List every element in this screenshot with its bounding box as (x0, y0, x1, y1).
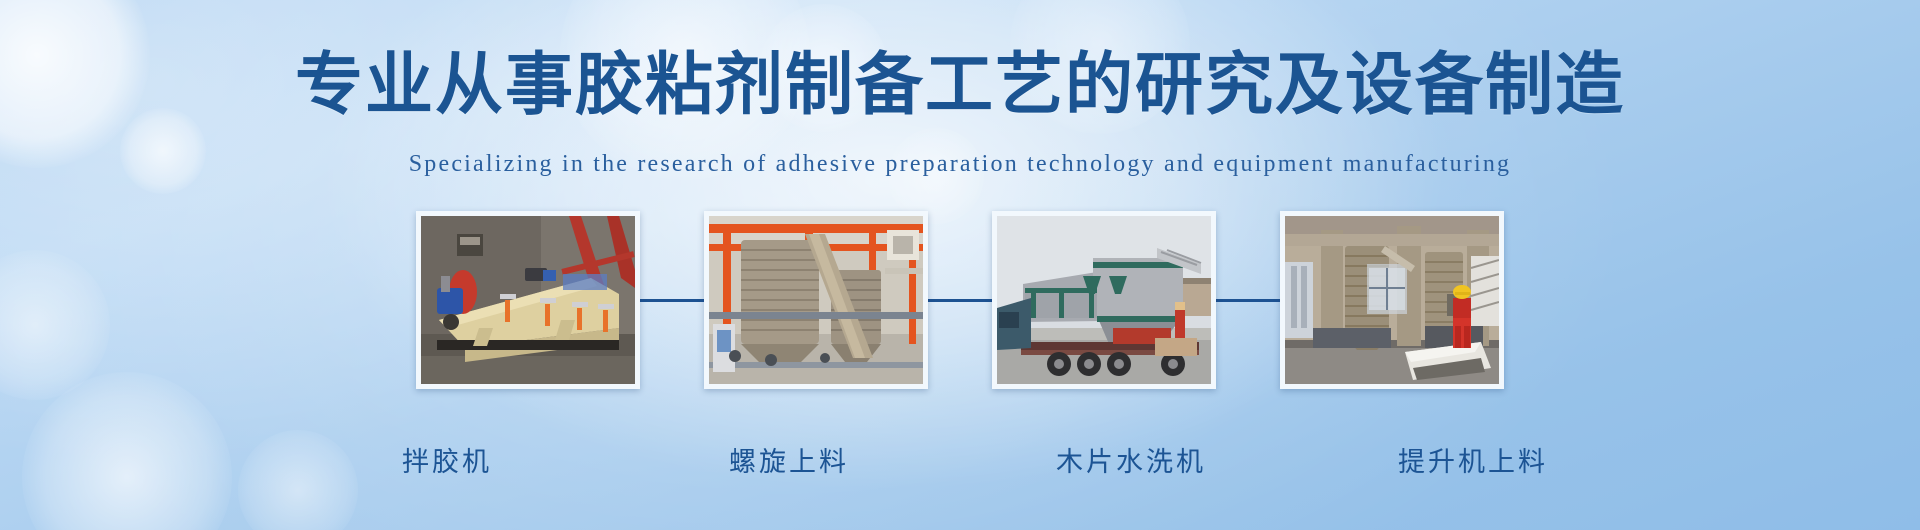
caption-slot: 提升机上料 (1334, 440, 1612, 479)
caption-screw-feeder: 螺旋上料 (729, 447, 849, 478)
photo-chip-washer[interactable] (992, 211, 1216, 389)
photo-screw-feeder[interactable] (704, 211, 928, 389)
photo-screw-feeder-image (709, 216, 923, 384)
gallery-captions: 拌胶机 螺旋上料 木片水洗机 提升机上料 (0, 440, 1920, 490)
caption-glue-mixer: 拌胶机 (402, 447, 492, 478)
gallery-item[interactable] (1280, 211, 1504, 389)
gallery-item[interactable] (704, 211, 928, 389)
caption-slot: 木片水洗机 (992, 440, 1270, 479)
equipment-gallery (0, 200, 1920, 400)
caption-slot: 螺旋上料 (650, 440, 928, 479)
flow-connector-line (928, 299, 992, 302)
flow-connector-line (640, 299, 704, 302)
caption-elevator-feeding: 提升机上料 (1398, 447, 1548, 478)
gallery-item[interactable] (416, 211, 640, 389)
photo-elevator-feeding-image (1285, 216, 1499, 384)
page-subtitle: Specializing in the research of adhesive… (0, 152, 1920, 176)
photo-chip-washer-image (997, 216, 1211, 384)
flow-connector-line (1216, 299, 1280, 302)
page-title: 专业从事胶粘剂制备工艺的研究及设备制造 (0, 52, 1920, 120)
photo-glue-mixer[interactable] (416, 211, 640, 389)
photo-glue-mixer-image (421, 216, 635, 384)
gallery-item[interactable] (992, 211, 1216, 389)
promo-banner: 专业从事胶粘剂制备工艺的研究及设备制造 Specializing in the … (0, 0, 1920, 530)
photo-elevator-feeding[interactable] (1280, 211, 1504, 389)
caption-slot: 拌胶机 (308, 440, 586, 479)
caption-chip-washer: 木片水洗机 (1056, 447, 1206, 478)
